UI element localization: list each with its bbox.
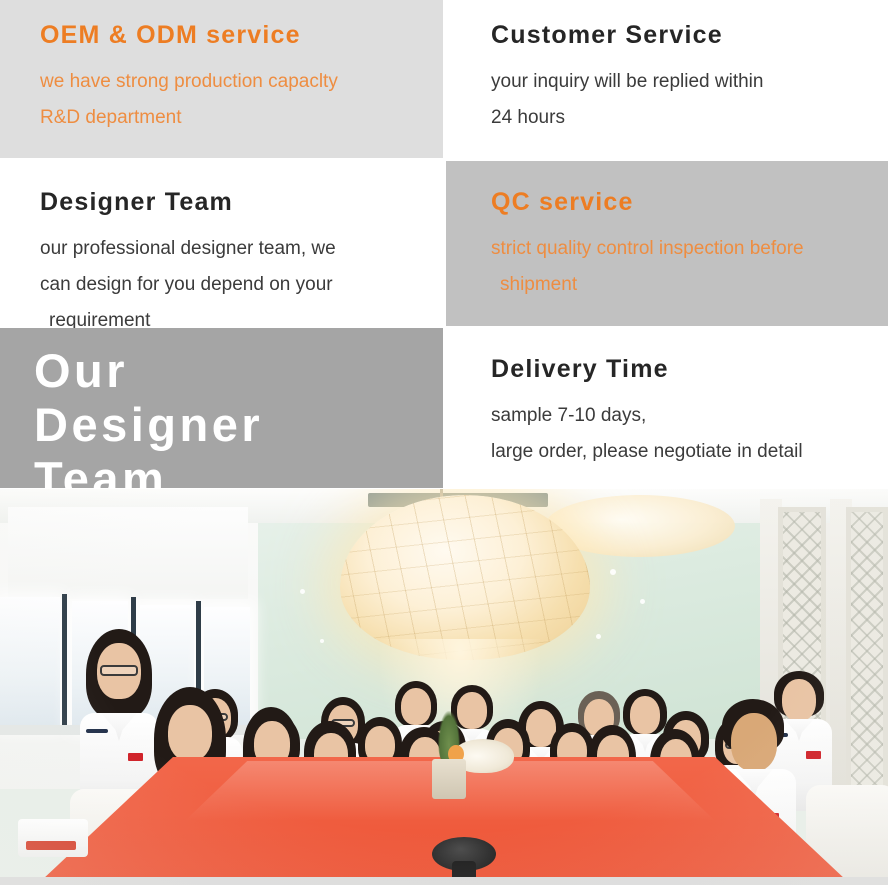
service-text-line: large order, please negotiate in detail (491, 434, 888, 470)
face (731, 713, 777, 771)
headline-line: Our (34, 344, 443, 398)
service-cell-customer-service: Customer Service your inquiry will be re… (446, 0, 888, 158)
cups-label (26, 841, 76, 850)
service-text-line: sample 7-10 days, (491, 398, 888, 434)
service-cell-delivery-time: Delivery Time sample 7-10 days, large or… (446, 328, 888, 488)
service-title-designer-team: Designer Team (40, 189, 443, 217)
shirt-logo (128, 753, 143, 761)
ceiling-light-spark (596, 634, 601, 639)
service-text-line: R&D department (40, 100, 443, 136)
ceiling-light-spark (640, 599, 645, 604)
face (168, 705, 212, 761)
service-grid: OEM & ODM service we have strong product… (0, 0, 888, 490)
service-text-line: we have strong production capaclty (40, 64, 443, 100)
service-cell-our-designer-team: Our Designer Team (0, 328, 443, 488)
collar-stripe (86, 729, 108, 733)
service-cell-designer-team: Designer Team our professional designer … (0, 161, 443, 326)
lattice-screen-panel (846, 507, 888, 797)
service-text-line: can design for you depend on your (40, 267, 443, 303)
page-root: OEM & ODM service we have strong product… (0, 0, 888, 885)
service-cell-oem: OEM & ODM service we have strong product… (0, 0, 443, 158)
service-title-customer-service: Customer Service (491, 22, 888, 50)
cups-on-side-table (18, 819, 88, 857)
window-blind (8, 507, 248, 599)
photo-bottom-edge (0, 877, 888, 885)
team-group-photo (0, 489, 888, 885)
window-pane (0, 597, 60, 727)
service-text-line: your inquiry will be replied within (491, 64, 888, 100)
plant-pot (432, 759, 466, 799)
shirt-logo (806, 751, 821, 759)
service-text-line: our professional designer team, we (40, 231, 443, 267)
service-text-line: shipment (491, 267, 888, 303)
headline-line: Designer (34, 398, 443, 452)
service-title-qc-service: QC service (491, 189, 888, 217)
service-title-delivery-time: Delivery Time (491, 356, 888, 384)
service-title-oem: OEM & ODM service (40, 22, 443, 50)
ceiling-light-spark (300, 589, 305, 594)
service-text-line: strict quality control inspection before (491, 231, 888, 267)
team-member (80, 629, 158, 809)
face (401, 688, 431, 725)
glasses-icon (100, 665, 138, 676)
ceiling-light-spark (610, 569, 616, 575)
window-mullion (62, 594, 67, 734)
ceiling-light-spark (320, 639, 324, 643)
service-cell-qc-service: QC service strict quality control inspec… (446, 161, 888, 326)
service-text-line: 24 hours (491, 100, 888, 136)
